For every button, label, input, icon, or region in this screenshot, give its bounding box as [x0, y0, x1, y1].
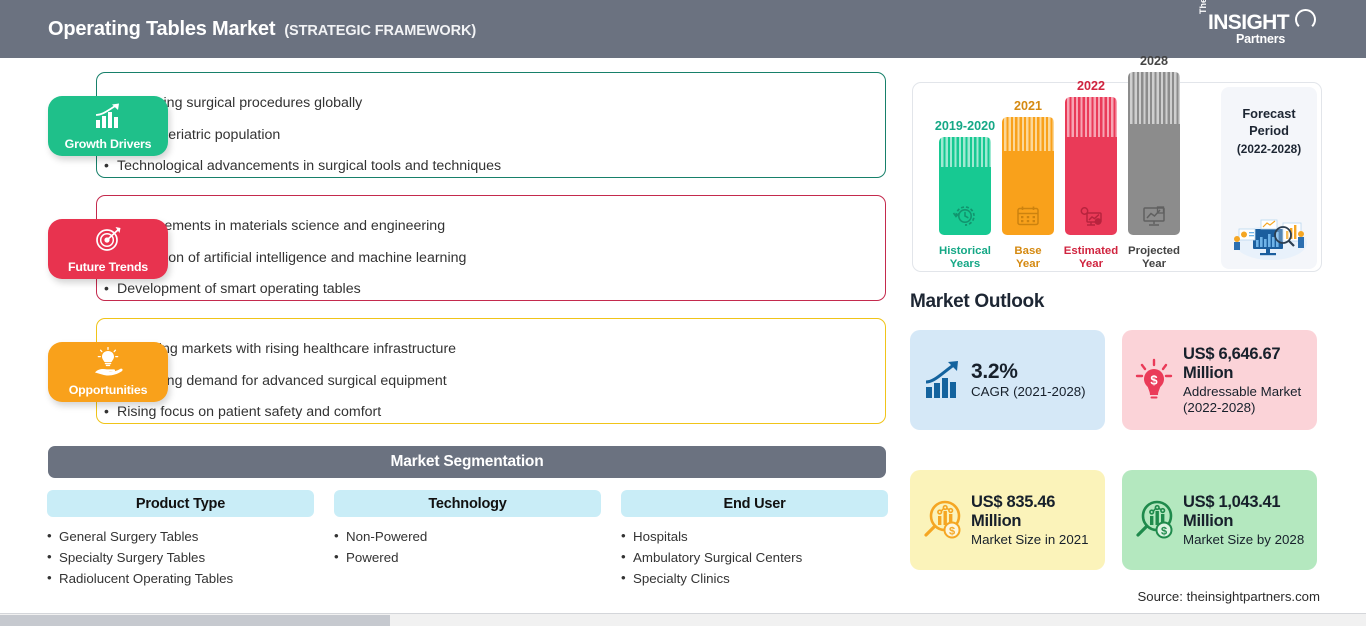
logo-the-text: The: [1198, 0, 1208, 14]
card-content: US$ 835.46 Million Market Size in 2021: [971, 493, 1096, 548]
logo-partners-text: Partners: [1236, 32, 1285, 46]
segment-items: Hospitals Ambulatory Surgical Centers Sp…: [621, 529, 888, 587]
lightbulb-dollar-icon: $: [1131, 357, 1177, 403]
bar-year-label: 2019-2020: [935, 119, 995, 133]
bar-year-label: 2028: [1140, 54, 1168, 68]
card-label: CAGR (2021-2028): [971, 384, 1096, 400]
card-content: US$ 6,646.67 Million Addressable Market …: [1183, 345, 1308, 416]
market-outlook-title: Market Outlook: [910, 291, 1044, 313]
lightbulb-hand-icon: [90, 347, 126, 377]
list-item: Non-Powered: [334, 529, 601, 545]
list-item: General Surgery Tables: [47, 529, 314, 545]
bar-year-label: 2022: [1077, 79, 1105, 93]
badge-opportunities[interactable]: Opportunities: [48, 342, 168, 402]
bar-caption: ProjectedYear: [1128, 245, 1180, 271]
list-item: Specialty Clinics: [621, 571, 888, 587]
bar-chart-arrow-icon: [919, 357, 965, 403]
card-content: US$ 1,043.41 Million Market Size by 2028: [1183, 493, 1308, 548]
presentation-screen-icon: [1141, 205, 1167, 227]
segmentation-column-end-user: End User Hospitals Ambulatory Surgical C…: [621, 490, 888, 587]
list-item: Radiolucent Operating Tables: [47, 571, 314, 587]
title-main: Operating Tables Market: [48, 18, 275, 41]
left-column: Increasing surgical procedures globally …: [0, 58, 900, 613]
card-content: 3.2% CAGR (2021-2028): [971, 360, 1096, 400]
segmentation-column-product-type: Product Type General Surgery Tables Spec…: [47, 490, 314, 587]
badge-future-trends[interactable]: Future Trends: [48, 219, 168, 279]
analytics-dashboard-illustration: [1225, 203, 1313, 261]
card-value: 3.2%: [971, 360, 1018, 383]
source-attribution: Source: theinsightpartners.com: [1137, 589, 1320, 604]
forecast-period-panel: Forecast Period (2022-2028): [1221, 87, 1317, 269]
list-item: Specialty Surgery Tables: [47, 550, 314, 566]
card-value: US$ 835.46 Million: [971, 493, 1055, 530]
timeline-bars: 2019-2020 HistoricalYears 2021: [935, 83, 1185, 273]
market-segmentation-title: Market Segmentation: [48, 446, 886, 478]
svg-text:$: $: [1161, 526, 1167, 538]
magnifier-chart-dollar-icon: $: [919, 497, 965, 543]
outlook-card-cagr[interactable]: 3.2% CAGR (2021-2028): [910, 330, 1105, 430]
title-subtitle: (STRATEGIC FRAMEWORK): [284, 23, 476, 39]
outlook-card-addressable-market[interactable]: $ US$ 6,646.67 Million Addressable Marke…: [1122, 330, 1317, 430]
list-item: Technological advancements in surgical t…: [104, 158, 784, 175]
badge-label: Future Trends: [68, 260, 148, 274]
segment-header: Product Type: [47, 490, 314, 517]
badge-label: Growth Drivers: [65, 137, 152, 151]
bar-caption: HistoricalYears: [939, 245, 991, 271]
outlook-card-market-size-2021[interactable]: $ US$ 835.46 Million Market Size in 2021: [910, 470, 1105, 570]
list-item: Rising geriatric population: [104, 127, 784, 144]
list-item: Ambulatory Surgical Centers: [621, 550, 888, 566]
list-item: Powered: [334, 550, 601, 566]
page-header: Operating Tables Market (STRATEGIC FRAME…: [0, 0, 1366, 58]
segment-header: End User: [621, 490, 888, 517]
horizontal-scrollbar[interactable]: [0, 613, 1366, 626]
list-item: Increasing surgical procedures globally: [104, 95, 784, 112]
list-item: Integration of artificial intelligence a…: [104, 250, 784, 267]
bar-chart-growth-icon: [90, 101, 126, 131]
future-trends-bullets: Advancements in materials science and en…: [104, 195, 784, 298]
bar-caption: EstimatedYear: [1064, 245, 1118, 271]
card-value: US$ 6,646.67 Million: [1183, 345, 1280, 382]
list-item: Development of smart operating tables: [104, 281, 784, 298]
badge-growth-drivers[interactable]: Growth Drivers: [48, 96, 168, 156]
segmentation-column-technology: Technology Non-Powered Powered: [334, 490, 601, 566]
list-item: Increasing demand for advanced surgical …: [104, 373, 784, 390]
badge-label: Opportunities: [69, 383, 148, 397]
growth-drivers-bullets: Increasing surgical procedures globally …: [104, 72, 784, 175]
forecast-line-3: (2022-2028): [1221, 141, 1317, 158]
segment-items: General Surgery Tables Specialty Surgery…: [47, 529, 314, 587]
calendar-icon: [1015, 205, 1041, 227]
target-dart-icon: [90, 224, 126, 254]
forecast-line-2: Period: [1249, 123, 1289, 138]
card-label: Market Size in 2021: [971, 532, 1096, 548]
list-item: Emerging markets with rising healthcare …: [104, 341, 784, 358]
svg-text:$: $: [949, 526, 955, 538]
forecast-period-text: Forecast Period (2022-2028): [1221, 105, 1317, 158]
opportunities-bullets: Emerging markets with rising healthcare …: [104, 318, 784, 421]
insight-partners-logo: The INSIGHT Partners: [1198, 9, 1314, 49]
magnifier-chart-dollar-icon: $: [1131, 497, 1177, 543]
card-label: Market Size by 2028: [1183, 532, 1308, 548]
list-item: Rising focus on patient safety and comfo…: [104, 404, 784, 421]
segment-header: Technology: [334, 490, 601, 517]
scrollbar-thumb[interactable]: [0, 615, 390, 626]
card-value: US$ 1,043.41 Million: [1183, 493, 1280, 530]
bar-year-label: 2021: [1014, 99, 1042, 113]
list-item: Hospitals: [621, 529, 888, 545]
outlook-card-market-size-2028[interactable]: $ US$ 1,043.41 Million Market Size by 20…: [1122, 470, 1317, 570]
list-item: Advancements in materials science and en…: [104, 218, 784, 235]
card-label: Addressable Market (2022-2028): [1183, 384, 1308, 416]
bar-caption: BaseYear: [1014, 245, 1041, 271]
segment-items: Non-Powered Powered: [334, 529, 601, 566]
clock-history-icon: [952, 205, 978, 227]
right-column: 2019-2020 HistoricalYears 2021: [900, 58, 1366, 613]
forecast-period-chart: 2019-2020 HistoricalYears 2021: [912, 82, 1322, 272]
page-title: Operating Tables Market (STRATEGIC FRAME…: [48, 18, 476, 41]
forecast-line-1: Forecast: [1242, 106, 1295, 121]
chart-gear-icon: [1078, 205, 1104, 227]
svg-text:$: $: [1150, 373, 1158, 388]
logo-arc-icon: [1295, 9, 1316, 30]
infographic-page: Operating Tables Market (STRATEGIC FRAME…: [0, 0, 1366, 626]
